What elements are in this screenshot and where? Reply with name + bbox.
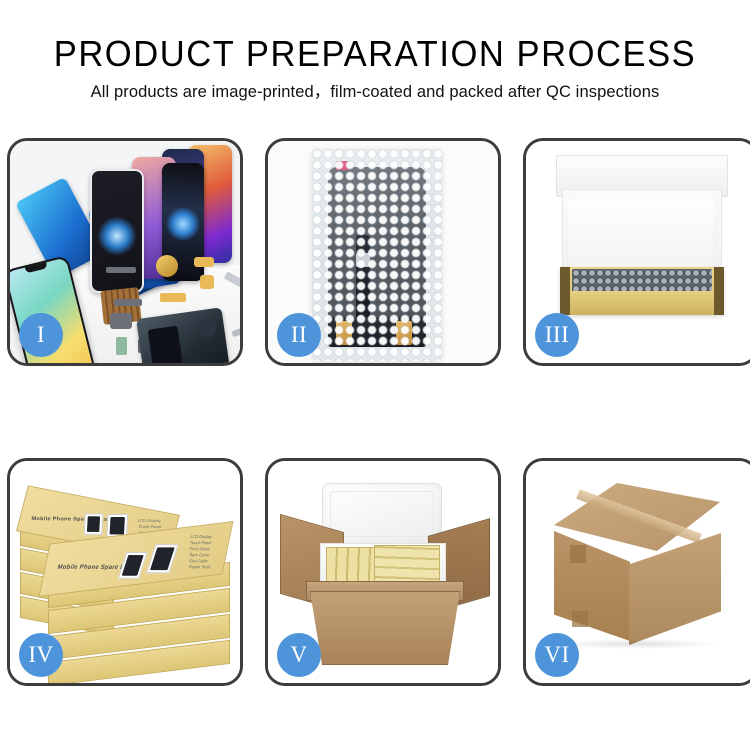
bracket-icon xyxy=(114,299,142,306)
carton-handle-tab-bottom xyxy=(572,611,588,627)
top-box-1-check-2: Touch Panel xyxy=(138,524,161,529)
bubble-wrap-bag xyxy=(312,149,442,361)
step-badge-2: II xyxy=(277,313,321,357)
top-box-2-check-6: Repair Tools xyxy=(188,564,211,569)
flex-cable-b-icon xyxy=(200,275,214,289)
carton-front-face xyxy=(310,591,460,665)
process-step-panel-1: I xyxy=(7,138,243,366)
box-tray-front-face xyxy=(560,291,724,315)
process-step-panel-2: II xyxy=(265,138,501,366)
front-glass-icon xyxy=(90,169,144,293)
process-step-panel-3: III xyxy=(523,138,750,366)
step-badge-3: III xyxy=(535,313,579,357)
box-tray-right-side xyxy=(714,267,724,315)
top-box-2-check-4: Back Cover xyxy=(189,552,211,557)
flex-cable-a-icon xyxy=(194,257,214,267)
top-box-2-check-5: Flex Cable xyxy=(188,558,208,563)
step-badge-6: VI xyxy=(535,633,579,677)
page-header: PRODUCT PREPARATION PROCESS All products… xyxy=(0,0,750,102)
speaker-mesh-icon xyxy=(106,267,136,273)
carton-handle-tab-top xyxy=(570,545,586,563)
process-step-panel-6: VI xyxy=(523,458,750,686)
camera-module-icon xyxy=(110,313,132,329)
box-tray-left-side xyxy=(560,267,570,315)
page-subtitle: All products are image-printed，film-coat… xyxy=(0,82,750,102)
step-badge-1: I xyxy=(19,313,63,357)
top-box-2-check-2: Touch Panel xyxy=(189,540,212,545)
battery-icon xyxy=(116,337,127,355)
top-box-2-window-a xyxy=(118,552,148,579)
process-step-grid: I II xyxy=(7,138,743,686)
step-badge-4: IV xyxy=(19,633,63,677)
top-box-1-check-1: LCD Display xyxy=(138,518,161,523)
foam-sheet-icon xyxy=(566,197,716,275)
process-step-panel-5: V xyxy=(265,458,501,686)
step-badge-5: V xyxy=(277,633,321,677)
taptic-engine-icon xyxy=(156,255,178,277)
top-box-2-check-1: LCD Display xyxy=(190,534,213,539)
top-box-2-window-b xyxy=(146,544,179,573)
bubble-texture-overlay xyxy=(312,149,442,361)
flex-cable-c-icon xyxy=(160,293,186,302)
page-title: PRODUCT PREPARATION PROCESS xyxy=(15,34,735,74)
process-step-panel-4: Mobile Phone Spare Parts LCD Display Tou… xyxy=(7,458,243,686)
top-box-2-check-3: Front Glass xyxy=(189,546,211,551)
top-box-1-window-a xyxy=(84,513,104,535)
